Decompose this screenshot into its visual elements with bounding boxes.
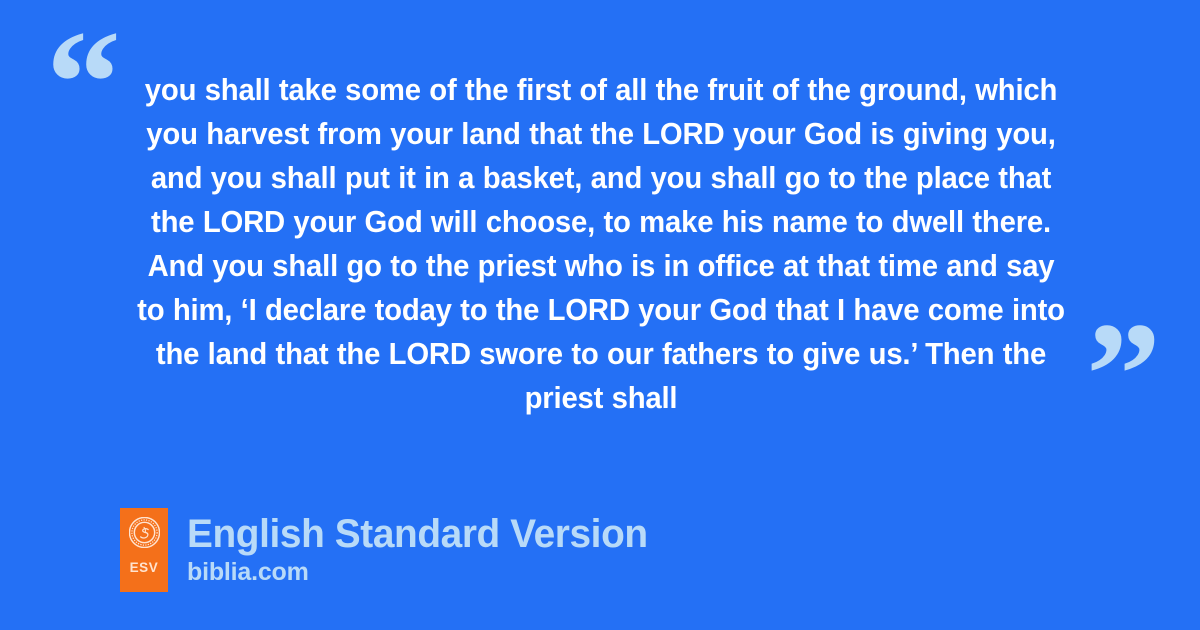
esv-logo-abbreviation: ESV: [130, 561, 159, 575]
site-name[interactable]: biblia.com: [187, 557, 662, 587]
quote-card: “ you shall take some of the first of al…: [0, 0, 1200, 470]
quote-text: you shall take some of the first of all …: [132, 68, 1071, 420]
attribution-text: English Standard Version biblia.com: [187, 508, 662, 587]
bible-version-name: English Standard Version: [187, 512, 648, 556]
esv-seal-icon: [129, 517, 160, 548]
closing-quote-mark-icon: ”: [1086, 300, 1159, 450]
attribution: ESV English Standard Version biblia.com: [120, 508, 662, 592]
opening-quote-mark-icon: “: [46, 8, 119, 158]
esv-logo: ESV: [120, 508, 168, 592]
